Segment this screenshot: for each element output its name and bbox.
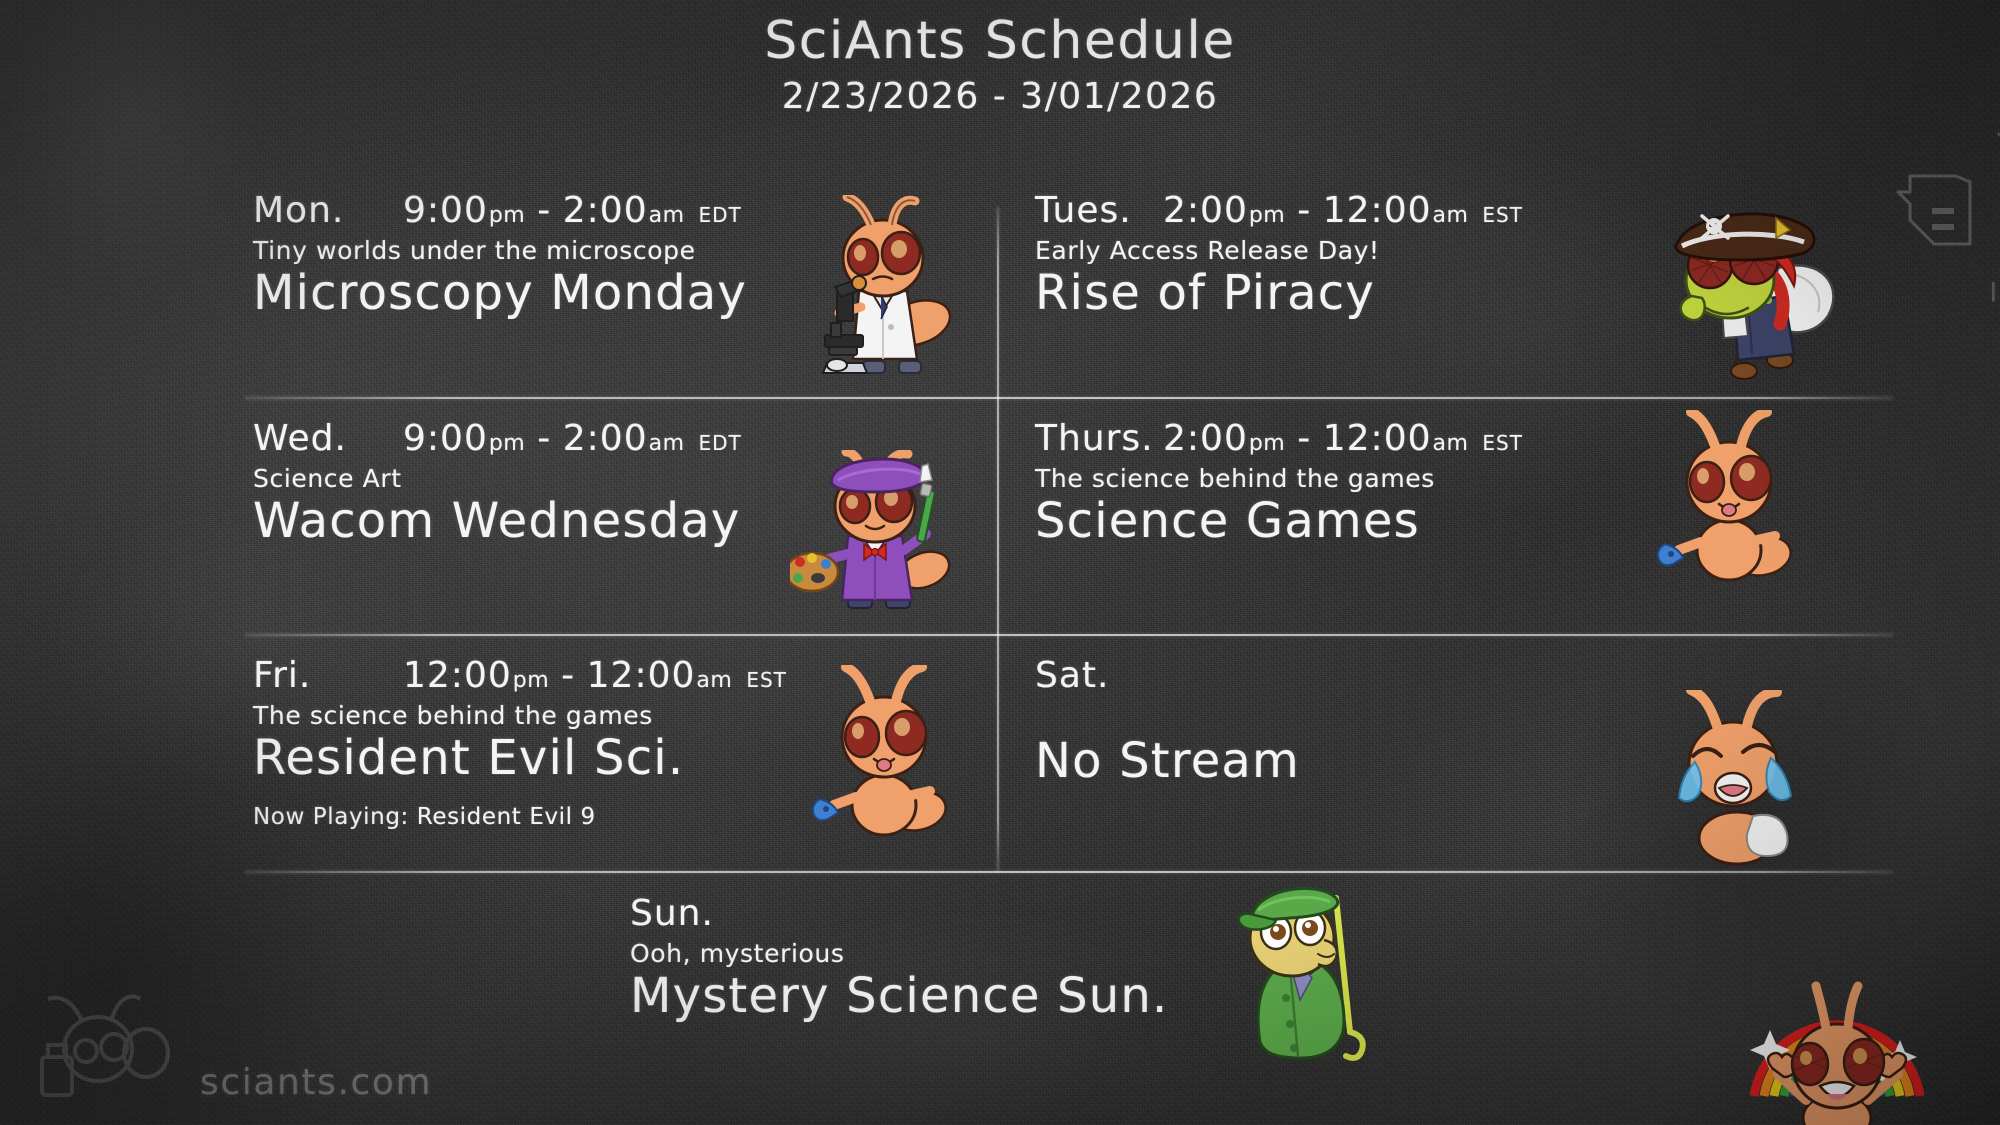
mascot-rainbow-hype-ant: [1742, 968, 1932, 1125]
wednesday-subtitle: Science Art: [253, 464, 742, 493]
wednesday-end-meridiem: am: [648, 431, 685, 456]
website-watermark: sciants.com: [200, 1062, 432, 1103]
tuesday-start-meridiem: pm: [1248, 203, 1285, 228]
tuesday-timezone: EST: [1468, 203, 1523, 227]
mascot-gamer-ant-friday: [800, 665, 975, 845]
monday-subtitle: Tiny worlds under the microscope: [253, 236, 747, 265]
sunday-time-row: Sun.: [630, 893, 1168, 935]
thursday-end-time: 12:00: [1323, 418, 1432, 459]
header: SciAnts Schedule 2/23/2026 - 3/01/2026: [0, 14, 2000, 116]
thursday-day-label: Thurs.: [1035, 418, 1163, 459]
sunday-day-label: Sun.: [630, 893, 758, 934]
mascot-detective-caterpillar: [1232, 882, 1402, 1062]
monday-time-dash: -: [525, 190, 563, 231]
mascot-scientist-ant-microscope: [795, 195, 985, 380]
thursday-start-time: 2:00: [1163, 418, 1248, 459]
thursday-time-dash: -: [1285, 418, 1323, 459]
monday-time-row: Mon. 9:00 pm - 2:00 am EDT: [253, 190, 747, 232]
day-cell-saturday[interactable]: Sat. No Stream: [1035, 655, 1300, 789]
schedule-canvas: SciAnts Schedule 2/23/2026 - 3/01/2026 M…: [0, 0, 2000, 1125]
wednesday-day-label: Wed.: [253, 418, 403, 459]
monday-start-time: 9:00: [403, 190, 488, 231]
tuesday-time-block: 2:00 pm - 12:00 am EST: [1163, 190, 1523, 231]
thursday-time-block: 2:00 pm - 12:00 am EST: [1163, 418, 1523, 459]
friday-start-time: 12:00: [403, 655, 512, 696]
friday-end-meridiem: am: [695, 668, 732, 693]
wednesday-time-block: 9:00 pm - 2:00 am EDT: [403, 418, 742, 459]
day-cell-friday[interactable]: Fri. 12:00 pm - 12:00 am EST The science…: [253, 655, 787, 830]
tuesday-subtitle: Early Access Release Day!: [1035, 236, 1523, 265]
monday-end-meridiem: am: [648, 203, 685, 228]
date-range: 2/23/2026 - 3/01/2026: [0, 77, 2000, 117]
wednesday-end-time: 2:00: [563, 418, 648, 459]
divider-row-3: [245, 871, 1893, 873]
wednesday-time-row: Wed. 9:00 pm - 2:00 am EDT: [253, 418, 742, 460]
mascot-painter-ant: [790, 450, 980, 620]
thursday-subtitle: The science behind the games: [1035, 464, 1523, 493]
monday-start-meridiem: pm: [488, 203, 525, 228]
friday-timezone: EST: [732, 668, 787, 692]
divider-row-2: [245, 634, 1893, 636]
tuesday-day-label: Tues.: [1035, 190, 1163, 231]
mascot-pirate-bug: [1648, 208, 1848, 388]
monday-title: Microscopy Monday: [253, 267, 747, 321]
thursday-timezone: EST: [1468, 431, 1523, 455]
tuesday-start-time: 2:00: [1163, 190, 1248, 231]
tuesday-time-row: Tues. 2:00 pm - 12:00 am EST: [1035, 190, 1523, 232]
thursday-title: Science Games: [1035, 495, 1523, 549]
friday-now-playing: Now Playing: Resident Evil 9: [253, 804, 787, 830]
tuesday-end-time: 12:00: [1323, 190, 1432, 231]
sunday-subtitle: Ooh, mysterious: [630, 939, 1168, 968]
mascot-crying-ant: [1645, 690, 1825, 870]
thursday-time-row: Thurs. 2:00 pm - 12:00 am EST: [1035, 418, 1523, 460]
friday-time-dash: -: [549, 655, 587, 696]
wednesday-start-meridiem: pm: [488, 431, 525, 456]
day-cell-thursday[interactable]: Thurs. 2:00 pm - 12:00 am EST The scienc…: [1035, 418, 1523, 549]
friday-end-time: 12:00: [587, 655, 696, 696]
friday-time-block: 12:00 pm - 12:00 am EST: [403, 655, 787, 696]
tuesday-time-dash: -: [1285, 190, 1323, 231]
page-title: SciAnts Schedule: [0, 14, 2000, 69]
monday-time-block: 9:00 pm - 2:00 am EDT: [403, 190, 742, 231]
thursday-end-meridiem: am: [1432, 431, 1469, 456]
day-cell-monday[interactable]: Mon. 9:00 pm - 2:00 am EDT Tiny worlds u…: [253, 190, 747, 321]
sunday-title: Mystery Science Sun.: [630, 970, 1168, 1024]
tuesday-end-meridiem: am: [1432, 203, 1469, 228]
day-cell-tuesday[interactable]: Tues. 2:00 pm - 12:00 am EST Early Acces…: [1035, 190, 1523, 321]
saturday-time-row: Sat.: [1035, 655, 1300, 697]
friday-time-row: Fri. 12:00 pm - 12:00 am EST: [253, 655, 787, 697]
friday-day-label: Fri.: [253, 655, 403, 696]
mascot-gamer-ant-thursday: [1645, 410, 1820, 590]
friday-title: Resident Evil Sci.: [253, 732, 787, 786]
wednesday-start-time: 9:00: [403, 418, 488, 459]
monday-end-time: 2:00: [563, 190, 648, 231]
thursday-start-meridiem: pm: [1248, 431, 1285, 456]
tuesday-title: Rise of Piracy: [1035, 267, 1523, 321]
monday-timezone: EDT: [685, 203, 742, 227]
day-cell-wednesday[interactable]: Wed. 9:00 pm - 2:00 am EDT Science Art W…: [253, 418, 742, 549]
sciants-logo-icon: [36, 991, 196, 1111]
wednesday-title: Wacom Wednesday: [253, 495, 742, 549]
divider-column: [997, 207, 999, 872]
day-cell-sunday[interactable]: Sun. Ooh, mysterious Mystery Science Sun…: [630, 893, 1168, 1024]
saturday-title: No Stream: [1035, 733, 1300, 789]
friday-start-meridiem: pm: [512, 668, 549, 693]
wednesday-time-dash: -: [525, 418, 563, 459]
divider-row-1: [245, 397, 1893, 399]
monday-day-label: Mon.: [253, 190, 403, 231]
friday-subtitle: The science behind the games: [253, 701, 787, 730]
saturday-day-label: Sat.: [1035, 655, 1163, 696]
wednesday-timezone: EDT: [685, 431, 742, 455]
